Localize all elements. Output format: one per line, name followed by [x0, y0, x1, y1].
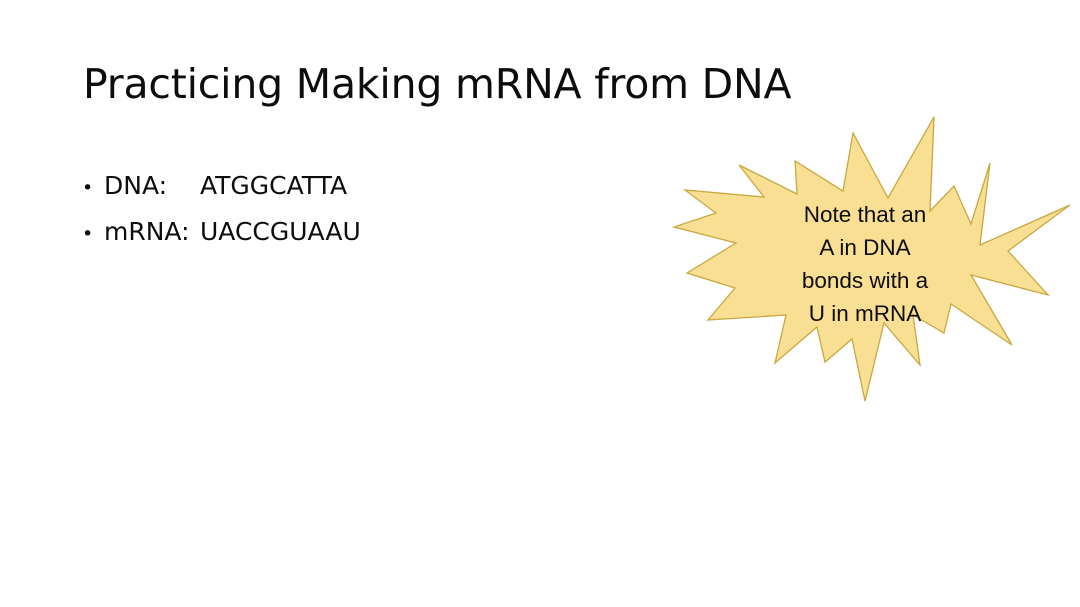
- list-item-dna: • DNA: ATGGCATTA: [82, 164, 361, 210]
- dna-label: DNA:: [104, 164, 200, 208]
- starburst-callout[interactable]: Note that an A in DNA bonds with a U in …: [660, 110, 1070, 408]
- list-item-mrna: • mRNA: UACCGUAAU: [82, 210, 361, 256]
- mrna-label: mRNA:: [104, 210, 200, 254]
- bullet-icon: •: [82, 166, 104, 210]
- page-title: Practicing Making mRNA from DNA: [83, 62, 791, 107]
- callout-text: Note that an A in DNA bonds with a U in …: [765, 198, 965, 330]
- slide-canvas: Practicing Making mRNA from DNA • DNA: A…: [0, 0, 1080, 607]
- mrna-sequence: UACCGUAAU: [200, 210, 361, 254]
- bullet-list: • DNA: ATGGCATTA • mRNA: UACCGUAAU: [82, 164, 361, 256]
- dna-sequence: ATGGCATTA: [200, 164, 347, 208]
- bullet-icon: •: [82, 212, 104, 256]
